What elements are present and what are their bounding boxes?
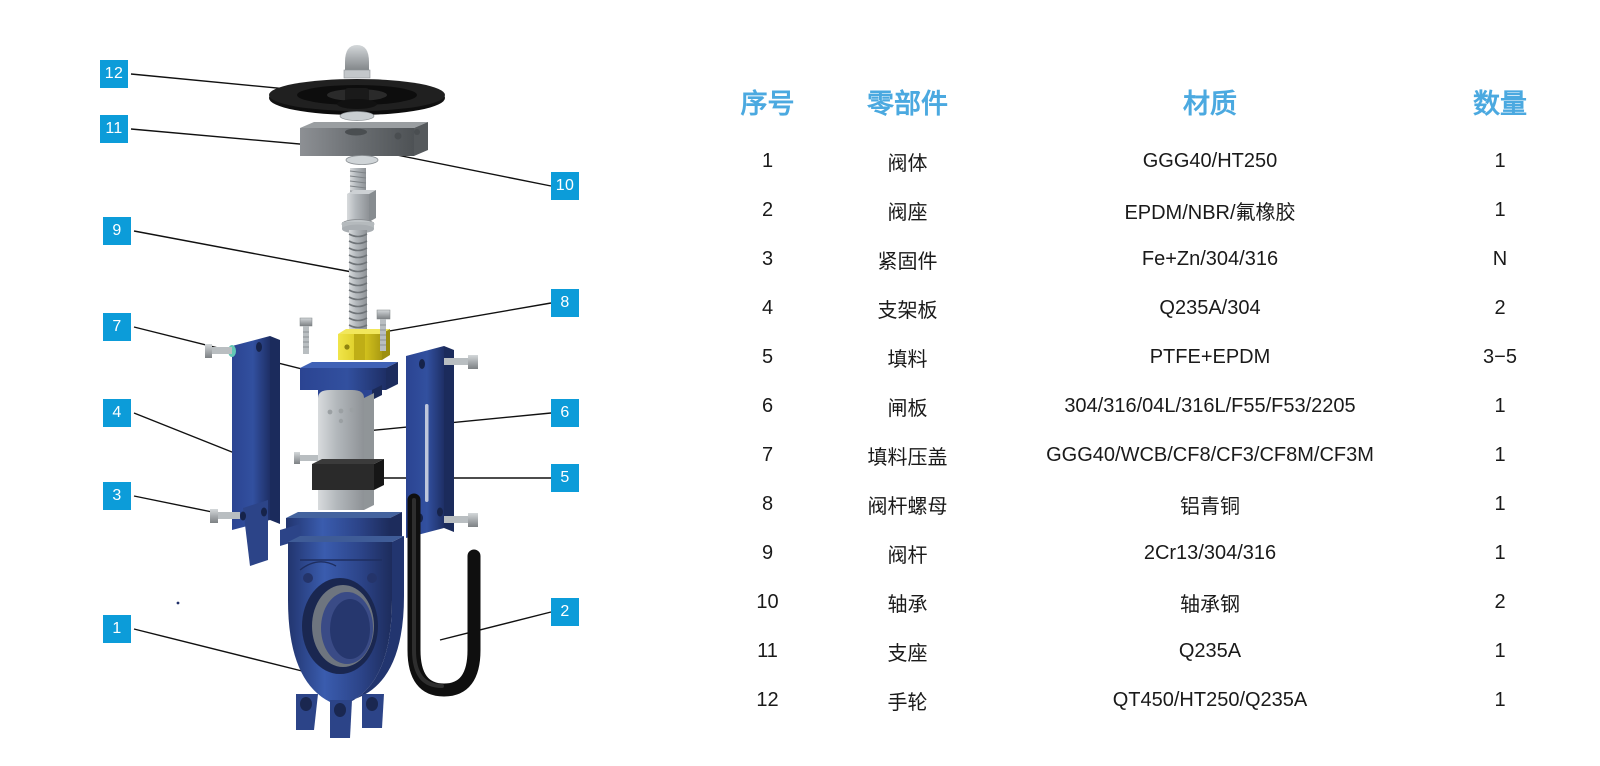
valve-exploded-view: 12 11 10 9 8 7 6 4 5 3 2 1 (0, 0, 700, 766)
packing-icon (312, 459, 384, 490)
cell-part: 轴承 (815, 578, 1000, 627)
callout-badge-4[interactable]: 4 (103, 399, 131, 427)
handwheel-icon (269, 79, 445, 115)
cell-qty: 1 (1420, 529, 1580, 578)
cell-part: 阀体 (815, 137, 1000, 186)
cell-qty: 1 (1420, 186, 1580, 235)
cell-qty: 1 (1420, 431, 1580, 480)
gate-plate-icon (318, 390, 374, 510)
cell-material: QT450/HT250/Q235A (1000, 676, 1420, 725)
cell-part: 阀杆螺母 (815, 480, 1000, 529)
callout-badge-11[interactable]: 11 (100, 115, 128, 143)
cell-no: 8 (720, 480, 815, 529)
support-plate-left-icon (232, 336, 280, 566)
callout-badge-6[interactable]: 6 (551, 399, 579, 427)
cell-part: 支架板 (815, 284, 1000, 333)
cell-no: 11 (720, 627, 815, 676)
cell-material: 2Cr13/304/316 (1000, 529, 1420, 578)
parts-table: 序号 零部件 材质 数量 1 阀体 GGG40/HT250 1 2 阀座 EPD… (720, 78, 1580, 725)
cell-part: 阀杆 (815, 529, 1000, 578)
cell-material: 轴承钢 (1000, 578, 1420, 627)
cell-part: 手轮 (815, 676, 1000, 725)
cell-qty: 1 (1420, 627, 1580, 676)
cell-qty: 1 (1420, 137, 1580, 186)
exploded-parts-diagram-page: 12 11 10 9 8 7 6 4 5 3 2 1 序号 零部件 材质 数量 (0, 0, 1600, 766)
cell-no: 12 (720, 676, 815, 725)
cell-no: 2 (720, 186, 815, 235)
handwheel-assembly (269, 45, 445, 121)
cell-no: 7 (720, 431, 815, 480)
cell-material: PTFE+EPDM (1000, 333, 1420, 382)
cell-no: 5 (720, 333, 815, 382)
callout-badge-8[interactable]: 8 (551, 289, 579, 317)
cell-part: 填料压盖 (815, 431, 1000, 480)
header-no: 序号 (720, 78, 815, 137)
leader-2 (440, 612, 551, 640)
leader-11 (131, 129, 322, 146)
leader-3 (134, 496, 222, 514)
bolt-icon (300, 318, 312, 354)
table-row: 5 填料 PTFE+EPDM 3−5 (720, 333, 1580, 382)
table-row: 3 紧固件 Fe+Zn/304/316 N (720, 235, 1580, 284)
callout-badge-3[interactable]: 3 (103, 482, 131, 510)
table-header-row: 序号 零部件 材质 数量 (720, 78, 1580, 137)
table-row: 4 支架板 Q235A/304 2 (720, 284, 1580, 333)
leader-1 (134, 629, 306, 672)
cell-part: 填料 (815, 333, 1000, 382)
valve-stem-icon (342, 168, 376, 340)
cell-part: 阀座 (815, 186, 1000, 235)
cell-material: Q235A (1000, 627, 1420, 676)
header-material: 材质 (1000, 78, 1420, 137)
callout-badge-1[interactable]: 1 (103, 615, 131, 643)
cell-material: 铝青铜 (1000, 480, 1420, 529)
cell-no: 9 (720, 529, 815, 578)
cell-no: 3 (720, 235, 815, 284)
table-row: 11 支座 Q235A 1 (720, 627, 1580, 676)
table-row: 6 闸板 304/316/04L/316L/F55/F53/2205 1 (720, 382, 1580, 431)
table-row: 9 阀杆 2Cr13/304/316 1 (720, 529, 1580, 578)
cell-material: Fe+Zn/304/316 (1000, 235, 1420, 284)
table-row: 2 阀座 EPDM/NBR/氟橡胶 1 (720, 186, 1580, 235)
cell-material: Q235A/304 (1000, 284, 1420, 333)
cell-part: 支座 (815, 627, 1000, 676)
parts-table-pane: 序号 零部件 材质 数量 1 阀体 GGG40/HT250 1 2 阀座 EPD… (700, 0, 1600, 766)
cell-qty: 1 (1420, 676, 1580, 725)
cell-qty: 1 (1420, 382, 1580, 431)
callout-badge-12[interactable]: 12 (100, 60, 128, 88)
callout-badge-7[interactable]: 7 (103, 313, 131, 341)
cell-qty: 1 (1420, 480, 1580, 529)
table-row: 8 阀杆螺母 铝青铜 1 (720, 480, 1580, 529)
cell-no: 1 (720, 137, 815, 186)
valve-body-icon (280, 512, 404, 738)
cell-no: 10 (720, 578, 815, 627)
cell-material: GGG40/WCB/CF8/CF3/CF8M/CF3M (1000, 431, 1420, 480)
leader-8 (372, 303, 551, 334)
cell-material: EPDM/NBR/氟橡胶 (1000, 186, 1420, 235)
callout-badge-10[interactable]: 10 (551, 172, 579, 200)
leader-9 (134, 231, 352, 272)
cell-qty: N (1420, 235, 1580, 284)
cell-no: 4 (720, 284, 815, 333)
wheel-washer-icon (340, 112, 374, 121)
callout-badge-5[interactable]: 5 (551, 464, 579, 492)
header-qty: 数量 (1420, 78, 1580, 137)
header-part: 零部件 (815, 78, 1000, 137)
cell-no: 6 (720, 382, 815, 431)
bearing-icon (346, 156, 378, 165)
callout-badge-2[interactable]: 2 (551, 598, 579, 626)
cell-part: 闸板 (815, 382, 1000, 431)
callout-badge-9[interactable]: 9 (103, 217, 131, 245)
bolt-icon (205, 344, 236, 358)
table-body: 1 阀体 GGG40/HT250 1 2 阀座 EPDM/NBR/氟橡胶 1 3… (720, 137, 1580, 725)
table-row: 7 填料压盖 GGG40/WCB/CF8/CF3/CF8M/CF3M 1 (720, 431, 1580, 480)
cap-nut-icon (344, 45, 370, 78)
cell-qty: 2 (1420, 284, 1580, 333)
table-row: 1 阀体 GGG40/HT250 1 (720, 137, 1580, 186)
artifact-dot (177, 602, 180, 605)
support-bracket-icon (300, 122, 428, 156)
table-row: 10 轴承 轴承钢 2 (720, 578, 1580, 627)
cell-qty: 3−5 (1420, 333, 1580, 382)
table-row: 12 手轮 QT450/HT250/Q235A 1 (720, 676, 1580, 725)
cell-material: GGG40/HT250 (1000, 137, 1420, 186)
cell-material: 304/316/04L/316L/F55/F53/2205 (1000, 382, 1420, 431)
cell-part: 紧固件 (815, 235, 1000, 284)
cell-qty: 2 (1420, 578, 1580, 627)
